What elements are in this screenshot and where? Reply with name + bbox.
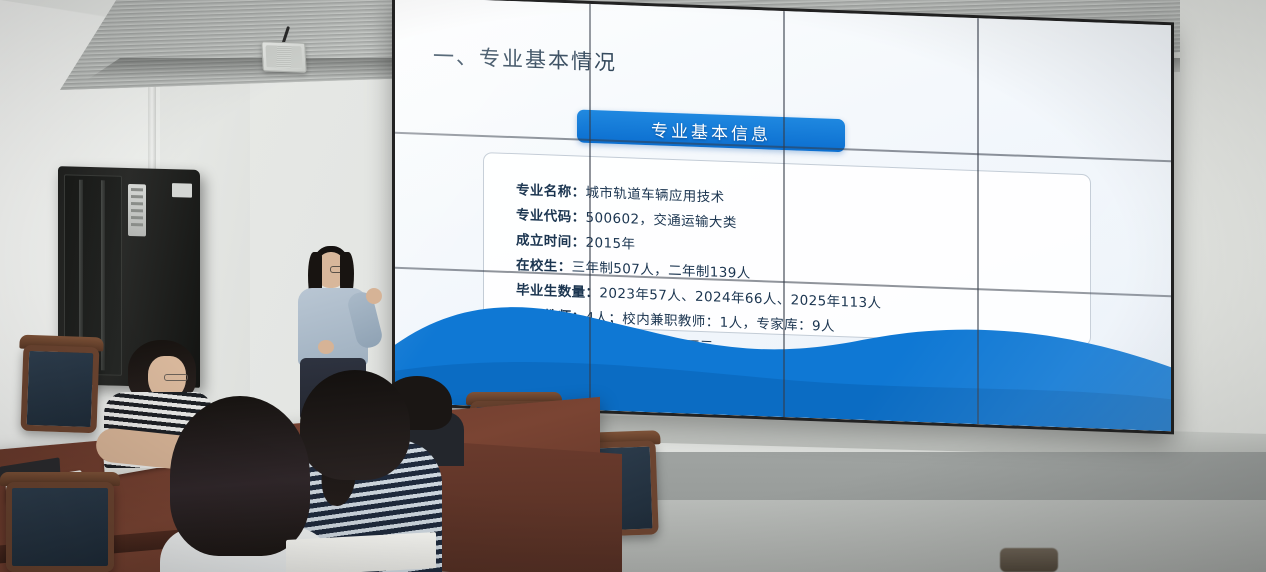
bezel-seam-vertical: [783, 11, 785, 417]
bezel-seam-vertical: [977, 18, 979, 424]
slide-info-label: 专业代码：: [516, 207, 586, 226]
foreground-object: [1000, 548, 1058, 572]
bezel-seam-vertical: [589, 4, 591, 410]
rack-control-panel: [128, 184, 146, 236]
slide-info-label: 专业名称：: [516, 182, 586, 201]
slide-info-value: 城市轨道车辆应用技术: [586, 185, 725, 206]
presenter-hand: [318, 340, 334, 354]
video-wall-display[interactable]: 一、专业基本情况 专业基本信息 专业名称：城市轨道车辆应用技术专业代码：5006…: [392, 0, 1174, 434]
chair: [0, 472, 120, 572]
attendee-hair: [300, 370, 410, 480]
slide-section-banner: 专业基本信息: [577, 109, 845, 152]
slide-info-label: 成立时间：: [516, 232, 586, 251]
slide-info-value: 500602，交通运输大类: [586, 210, 737, 232]
attendee-hair: [170, 396, 310, 556]
wall-speaker-icon: [261, 41, 307, 73]
chair: [16, 335, 104, 442]
paper-on-table: [286, 532, 436, 572]
rack-label: [172, 183, 192, 198]
meeting-room-scene: 一、专业基本情况 专业基本信息 专业名称：城市轨道车辆应用技术专业代码：5006…: [0, 0, 1266, 572]
slide-info-value: 2015年: [586, 235, 636, 253]
presenter-hand: [366, 288, 382, 304]
attendee-glasses: [164, 374, 188, 381]
video-wall-screen: 一、专业基本情况 专业基本信息 专业名称：城市轨道车辆应用技术专业代码：5006…: [395, 0, 1171, 431]
speaker-grill: [265, 45, 302, 68]
